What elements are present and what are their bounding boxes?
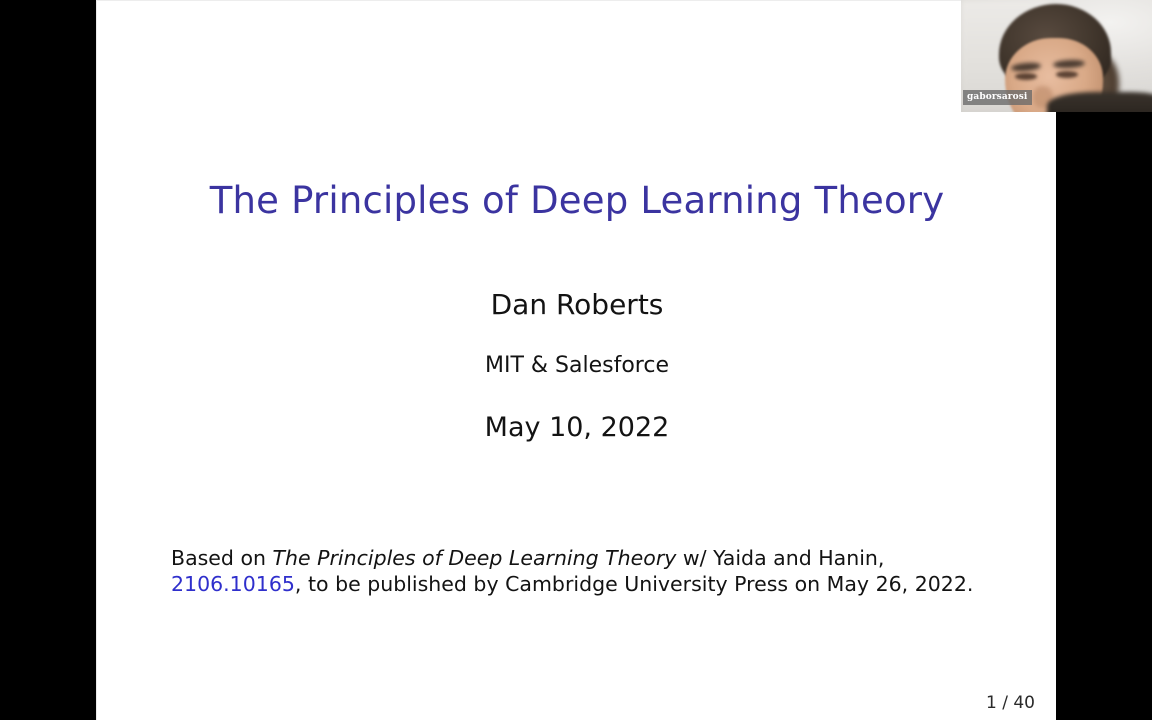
footnote-middle: w/ Yaida and Hanin, [676,546,884,570]
slide-title: The Principles of Deep Learning Theory [97,179,1056,222]
slide-author: Dan Roberts [97,288,1056,321]
webcam-video-tile[interactable]: gaborsarosi [961,0,1152,112]
footnote-book-title: The Principles of Deep Learning Theory [273,546,677,570]
slide-affiliation: MIT & Salesforce [97,353,1056,378]
webcam-shoulder [1047,92,1152,112]
webcam-participant-name-badge: gaborsarosi [963,90,1032,105]
footnote-line-2: to be published by Cambridge University … [308,572,973,596]
slide-content: The Principles of Deep Learning Theory D… [97,1,1056,720]
presentation-slide[interactable]: The Principles of Deep Learning Theory D… [96,0,1056,720]
footnote-prefix: Based on [171,546,273,570]
letterbox-bar-left [0,0,96,720]
footnote-after-link: , [295,572,302,596]
slide-date: May 10, 2022 [97,412,1056,443]
arxiv-link[interactable]: 2106.10165 [171,572,295,596]
slide-page-number: 1 / 40 [986,693,1035,713]
screen-root: The Principles of Deep Learning Theory D… [0,0,1152,720]
webcam-eye-right [1056,71,1078,78]
slide-footnote: Based on The Principles of Deep Learning… [171,546,991,597]
webcam-eye-left [1015,73,1037,80]
